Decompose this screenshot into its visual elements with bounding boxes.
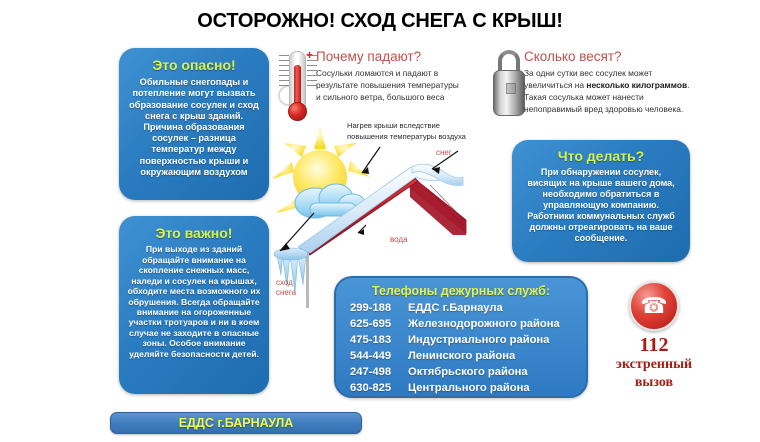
phone-number: 475-183 [350, 333, 408, 349]
info-box-what-to-do: Что делать? При обнаружении сосулек, вис… [512, 140, 690, 262]
thermometer-bulb [288, 102, 307, 121]
phone-number: 247-498 [350, 365, 408, 381]
illustration-label-snow: снег [436, 148, 452, 158]
section-how-much-weight: Сколько весят? За одни сутки вес сосулек… [524, 50, 694, 116]
info-box-important-heading: Это важно! [127, 225, 261, 241]
section-how-much-weight-body: За одни сутки вес сосулек может увеличит… [524, 68, 694, 116]
footer-bar: ЕДДС г.БАРНАУЛА [110, 412, 362, 434]
phone-row[interactable]: 299-188 ЕДДС г.Барнаула [336, 301, 586, 317]
info-box-what-to-do-heading: Что делать? [520, 148, 682, 164]
weight-body [493, 70, 525, 116]
phone-number: 630-825 [350, 381, 408, 397]
phone-row[interactable]: 630-825 Центрального района [336, 381, 586, 397]
handset-glyph: ☎ [640, 295, 667, 317]
emergency-text-line1: экстренный [598, 356, 710, 374]
info-box-danger: Это опасно! Обильные снегопады и потепле… [119, 48, 269, 200]
section-why-falling-body: Сосульки ломаются и падают в результате … [316, 68, 464, 104]
phone-service-name: Индустриального района [408, 333, 586, 349]
section-how-much-weight-heading: Сколько весят? [524, 50, 694, 65]
weight-marking [506, 83, 516, 94]
phone-service-name: Железнодорожного района [408, 317, 586, 333]
phones-list: 299-188 ЕДДС г.Барнаула 625-695 Железнод… [336, 301, 586, 396]
emergency-call-block: ☎ 112 экстренный вызов [598, 281, 710, 391]
illustration-caption-heat: Нагрев крыши вследствие повышения темпер… [347, 120, 477, 142]
phone-number: 625-695 [350, 317, 408, 333]
illustration-label-snow-fall: сход снега [276, 278, 314, 298]
info-box-what-to-do-body: При обнаружении сосулек, висящих на крыш… [520, 167, 682, 244]
phones-heading: Телефоны дежурных служб: [336, 284, 586, 298]
section-why-falling-heading: Почему падают? [316, 50, 464, 65]
info-box-important: Это важно! При выходе из зданий обращайт… [119, 216, 269, 394]
thermometer-ticks-left [279, 55, 289, 99]
info-box-important-body: При выходе из зданий обращайте внимание … [127, 244, 261, 359]
phone-service-name: Октябрьского района [408, 365, 586, 381]
section-why-falling: Почему падают? Сосульки ломаются и падаю… [316, 50, 464, 104]
phone-row[interactable]: 247-498 Октябрьского района [336, 365, 586, 381]
phone-handset-icon[interactable]: ☎ [629, 281, 679, 331]
phone-row[interactable]: 625-695 Железнодорожного района [336, 317, 586, 333]
phone-service-name: ЕДДС г.Барнаула [408, 301, 586, 317]
emergency-text-line2: вызов [598, 374, 710, 392]
phone-row[interactable]: 544-449 Ленинского района [336, 349, 586, 365]
thermometer-plus-sign: + [306, 49, 313, 61]
emergency-phones-panel: Телефоны дежурных служб: 299-188 ЕДДС г.… [334, 276, 588, 398]
weight-icon [489, 50, 529, 122]
info-box-danger-heading: Это опасно! [128, 57, 260, 73]
infographic-canvas: ОСТОРОЖНО! СХОД СНЕГА С КРЫШ! Это опасно… [0, 0, 760, 442]
phone-number: 299-188 [350, 301, 408, 317]
weight-body-bold: несколько килограммов [586, 80, 687, 90]
phone-number: 544-449 [350, 349, 408, 365]
phone-service-name: Центрального района [408, 381, 586, 397]
page-title: ОСТОРОЖНО! СХОД СНЕГА С КРЫШ! [0, 10, 760, 33]
phone-service-name: Ленинского района [408, 349, 586, 365]
info-box-danger-body: Обильные снегопады и потепление могут вы… [128, 77, 260, 178]
phone-row[interactable]: 475-183 Индустриального района [336, 333, 586, 349]
thermometer-icon: + [277, 49, 319, 125]
emergency-number: 112 [598, 335, 710, 356]
illustration-label-water: вода [390, 235, 408, 245]
